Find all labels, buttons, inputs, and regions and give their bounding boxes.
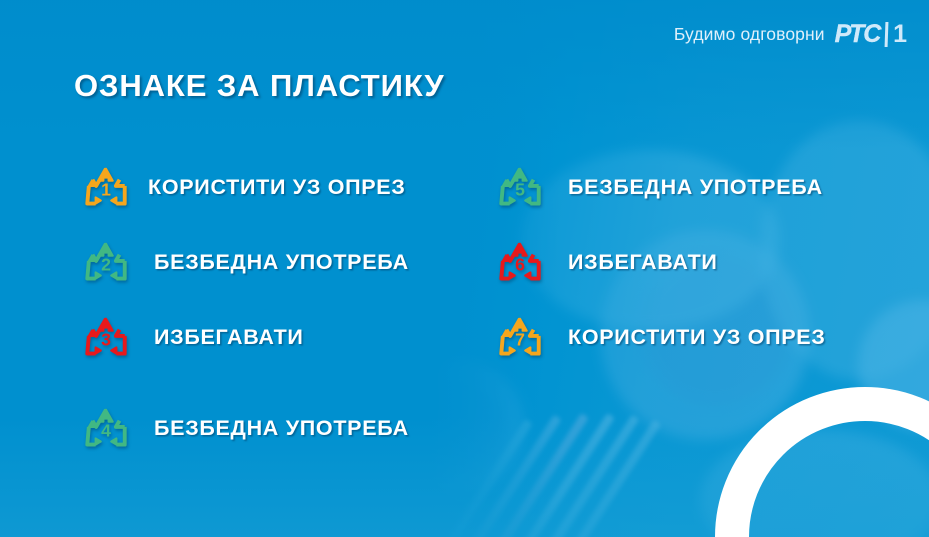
list-item: 2 БЕЗБЕДНА УПОТРЕБА [78, 225, 409, 300]
recycling-symbol-6-number: 6 [515, 254, 525, 274]
list-item: 5 БЕЗБЕДНА УПОТРЕБА [492, 150, 826, 225]
list-item-label: БЕЗБЕДНА УПОТРЕБА [154, 416, 409, 441]
list-item: 7 КОРИСТИТИ УЗ ОПРЕЗ [492, 300, 826, 375]
list-item-label: БЕЗБЕДНА УПОТРЕБА [568, 175, 823, 200]
list-item-label: КОРИСТИТИ УЗ ОПРЕЗ [148, 175, 406, 200]
list-item-label: ИЗБЕГАВАТИ [154, 325, 304, 350]
rts-logo-separator [885, 22, 889, 47]
recycling-symbol-1-icon: 1 [78, 160, 134, 216]
page-title: ОЗНАКЕ ЗА ПЛАСТИКУ [74, 68, 445, 104]
recycling-symbol-7-number: 7 [515, 329, 525, 349]
list-item-label: БЕЗБЕДНА УПОТРЕБА [154, 250, 409, 275]
rts-logo-text: РТС [835, 22, 880, 47]
slide-root: Будимо одговорни РТС 1 ОЗНАКЕ ЗА ПЛАСТИК… [0, 0, 929, 537]
list-item: 6 ИЗБЕГАВАТИ [492, 225, 826, 300]
recycling-symbol-2-number: 2 [101, 254, 111, 274]
rts-logo: РТС 1 [835, 22, 907, 47]
recycling-symbol-4-icon: 4 [78, 401, 134, 457]
recycling-symbol-5-icon: 5 [492, 160, 548, 216]
list-item: 3 ИЗБЕГАВАТИ [78, 300, 409, 375]
recycling-symbol-6-icon: 6 [492, 235, 548, 291]
symbol-list-right: 5 БЕЗБЕДНА УПОТРЕБА [492, 150, 826, 375]
recycling-symbol-4-number: 4 [101, 420, 111, 440]
recycling-symbol-3-icon: 3 [78, 310, 134, 366]
recycling-symbol-7-icon: 7 [492, 310, 548, 366]
rts-logo-channel: 1 [893, 22, 907, 47]
symbol-list-left: 1 КОРИСТИТИ УЗ ОПРЕЗ [78, 150, 409, 466]
slogan-text: Будимо одговорни [674, 24, 825, 45]
recycling-symbol-5-number: 5 [515, 179, 525, 199]
header-branding: Будимо одговорни РТС 1 [674, 22, 907, 47]
list-item: 1 КОРИСТИТИ УЗ ОПРЕЗ [78, 150, 409, 225]
recycling-symbol-2-icon: 2 [78, 235, 134, 291]
recycling-symbol-1-number: 1 [101, 179, 111, 199]
list-item-label: ИЗБЕГАВАТИ [568, 250, 718, 275]
list-item-label: КОРИСТИТИ УЗ ОПРЕЗ [568, 325, 826, 350]
recycling-symbol-3-number: 3 [101, 329, 111, 349]
list-item: 4 БЕЗБЕДНА УПОТРЕБА [78, 391, 409, 466]
